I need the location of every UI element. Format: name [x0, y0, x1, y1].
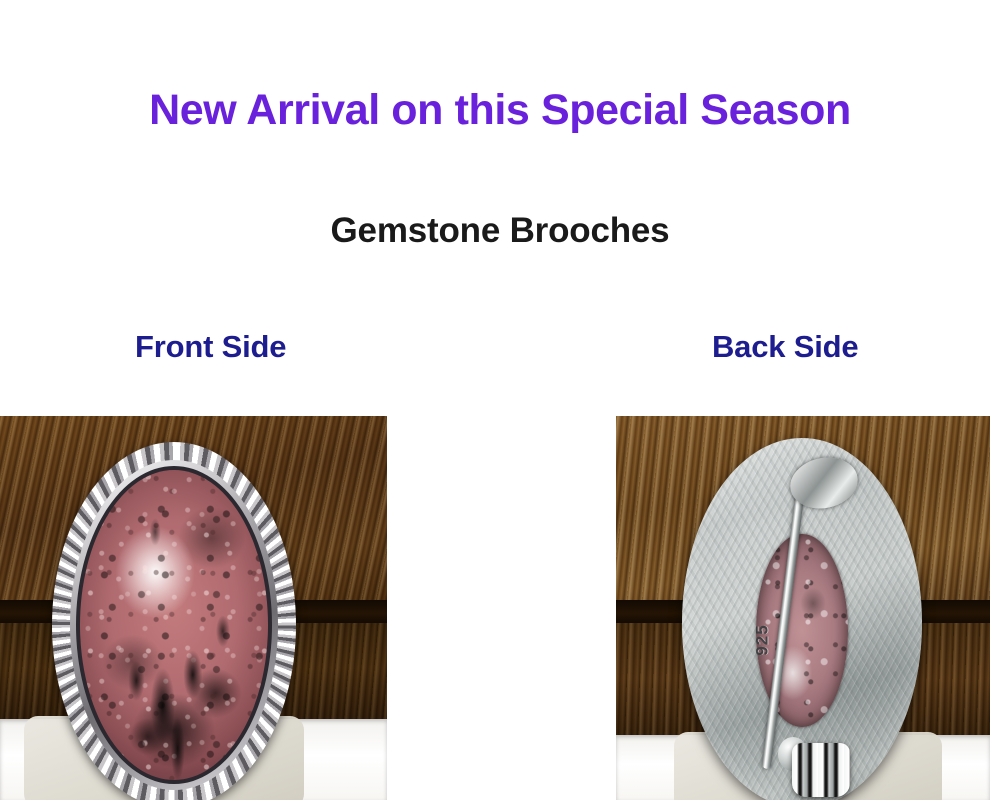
brooch-front-object	[52, 442, 296, 800]
pin-clasp-catch	[792, 743, 850, 797]
silver-hallmark-stamp: 925	[752, 625, 772, 656]
back-side-label: Back Side	[712, 329, 858, 365]
page-title: New Arrival on this Special Season	[0, 86, 1000, 135]
product-category-heading: Gemstone Brooches	[0, 211, 1000, 251]
gemstone-black-matrix	[80, 470, 268, 780]
back-side-photo: 925	[616, 416, 990, 800]
front-side-label: Front Side	[135, 329, 286, 365]
brooch-back-object: 925	[682, 438, 922, 800]
front-side-photo	[0, 416, 387, 800]
rhodonite-cabochon	[80, 470, 268, 780]
